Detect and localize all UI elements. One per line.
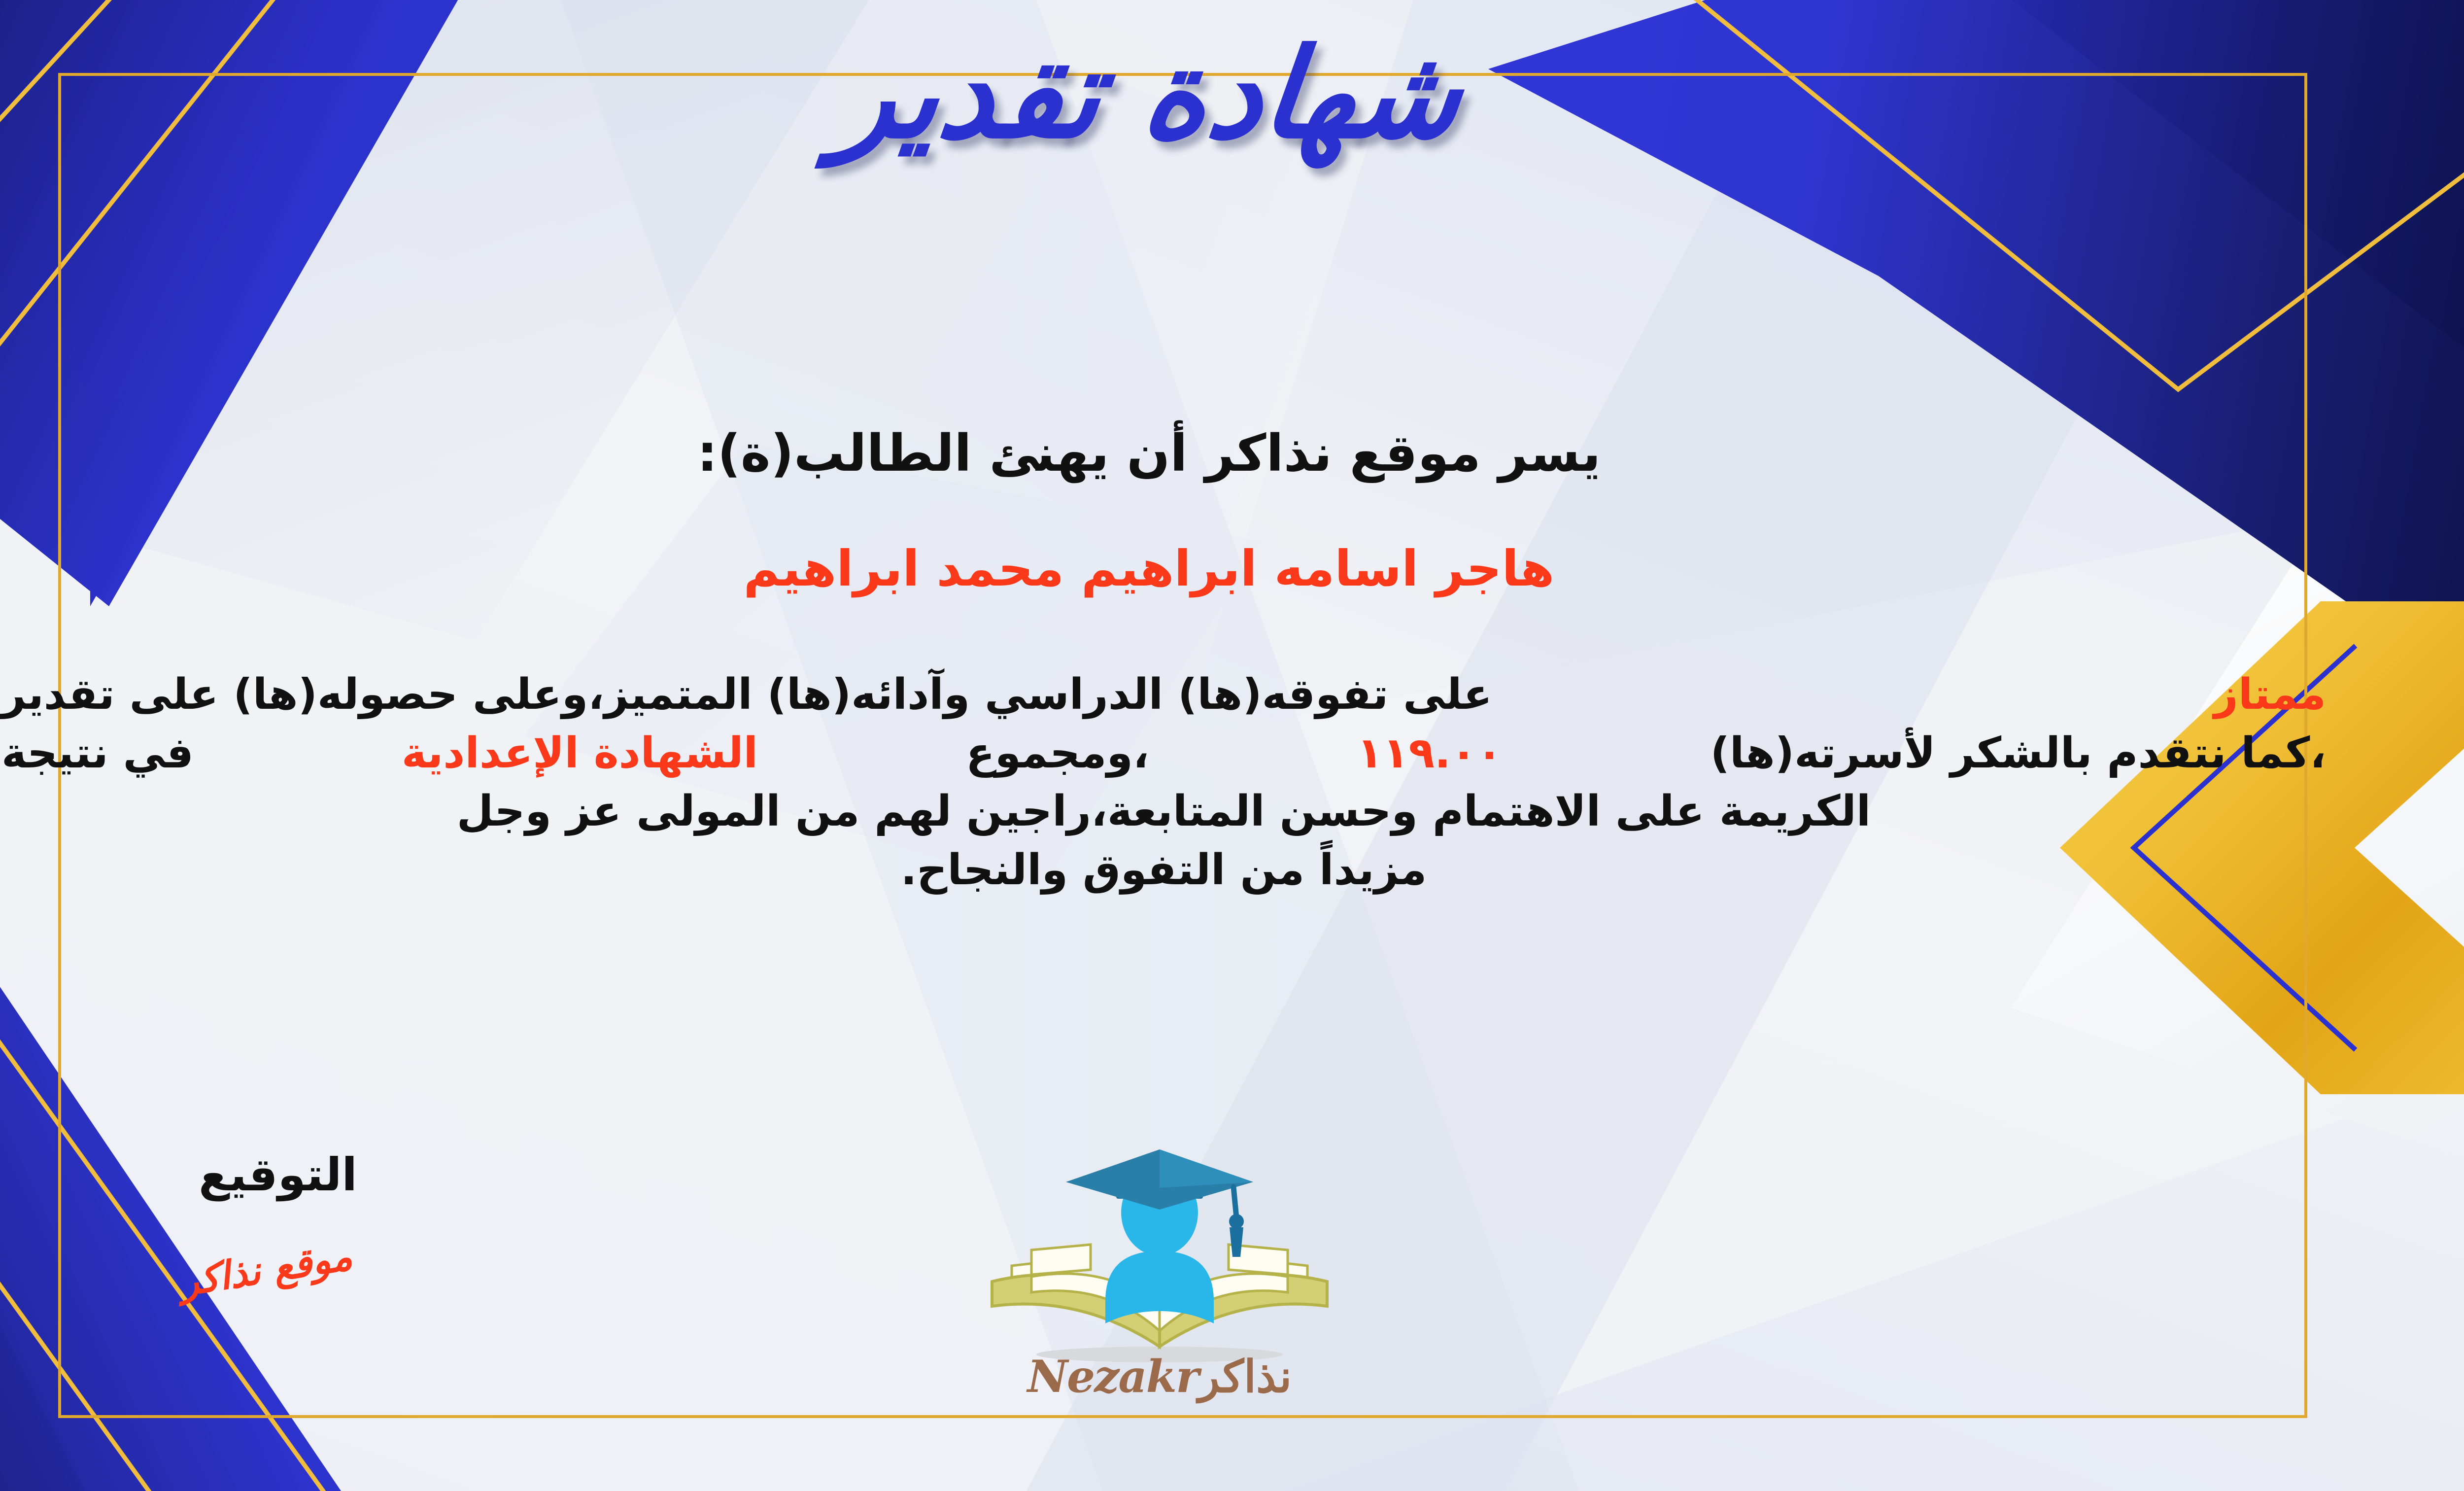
wish-text: مزيداً من التفوق والنجاح. (901, 841, 1427, 900)
logo-name-ar: نذاكر (1198, 1351, 1292, 1403)
logo-name-en: Nezakr (1027, 1351, 1198, 1403)
certificate-title: شهادة تقدير (0, 30, 2464, 159)
signature-handwriting: موقع نذاكر (176, 1234, 355, 1305)
gratitude-text: الكريمة على الاهتمام وحسن المتابعة،راجين… (457, 782, 1871, 841)
signature-label: التوقيع (199, 1148, 357, 1201)
body-line-achievement: ممتاز على تفوقه(ها) الدراسي وآدائه(ها) ا… (1, 665, 2326, 724)
result-prefix: في نتيجة (1, 724, 194, 783)
family-thanks-text: ،كما نتقدم بالشكر لأسرته(ها) (1711, 724, 2326, 783)
grade-value: ممتاز (2214, 665, 2326, 724)
certificate-body: ممتاز على تفوقه(ها) الدراسي وآدائه(ها) ا… (1, 665, 2326, 900)
body-line-wish: مزيداً من التفوق والنجاح. (1, 841, 2326, 900)
certificate-page: شهادة تقدير يسر موقع نذاكر أن يهنئ الطال… (0, 0, 2464, 1491)
total-label: ،ومجموع (966, 724, 1149, 783)
intro-text: يسر موقع نذاكر أن يهنئ الطالب(ة): (0, 424, 2464, 483)
achievement-text: على تفوقه(ها) الدراسي وآدائه(ها) المتميز… (1, 665, 1492, 724)
student-name: هاجر اسامه ابراهيم محمد ابراهيم (0, 540, 2464, 597)
logo-wordmark: نذاكرNezakr (958, 1351, 1362, 1403)
body-line-exam: ،كما نتقدم بالشكر لأسرته(ها) ١١٩.٠٠ ،ومج… (1, 724, 2326, 783)
body-line-gratitude: الكريمة على الاهتمام وحسن المتابعة،راجين… (1, 782, 2326, 841)
nezakr-logo: نذاكرNezakr (958, 1134, 1362, 1400)
exam-name: الشهادة الإعدادية (402, 724, 758, 783)
certificate-content: شهادة تقدير يسر موقع نذاكر أن يهنئ الطال… (0, 0, 2464, 1491)
total-value: ١١٩.٠٠ (1357, 724, 1503, 783)
